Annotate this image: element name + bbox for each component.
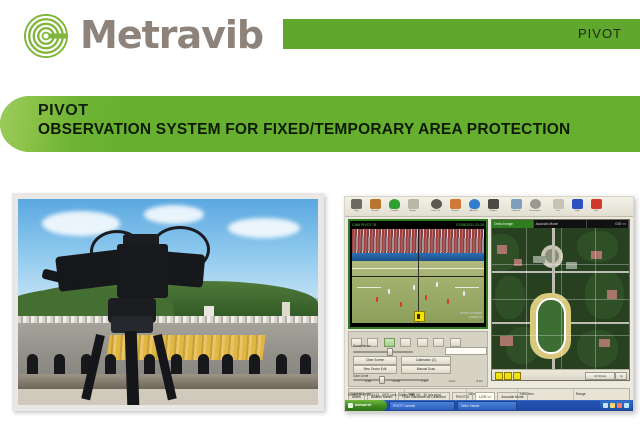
toolbar-button-calibrate[interactable]: Calibrate <box>507 198 525 216</box>
map-tab-acoustic-mode[interactable]: Acoustic Mode <box>534 220 588 228</box>
controls-clear-screen-button[interactable]: Clear Screen <box>353 356 397 365</box>
metravib-wordmark: Metravib <box>80 13 263 57</box>
video-camera-label: CAM PIVOT 01 <box>352 221 377 229</box>
toolbar-button-options[interactable]: Options <box>484 198 502 216</box>
video-player <box>400 302 402 307</box>
toolbar-button-record[interactable]: Record <box>366 198 384 216</box>
controls-new-sector-button[interactable]: New Sector Edit <box>353 365 397 374</box>
toolbar-button-report[interactable]: Report <box>404 198 422 216</box>
map-all-shots-button[interactable]: All Shots <box>585 372 615 380</box>
controls-calibration-button[interactable]: Calibration (C) <box>401 356 451 365</box>
control-mini-button[interactable] <box>450 338 461 347</box>
video-crosshair-vertical <box>418 229 419 323</box>
tripod-leg <box>125 331 140 405</box>
status-bar: SENSOR 1 / 21:34:12 - GPS Lock - Meteo d… <box>348 392 630 399</box>
video-image[interactable]: PIVOT SYSTEM ZOOM x4 <box>352 229 484 323</box>
control-mini-button[interactable] <box>433 338 444 347</box>
photo-sensor-deployment <box>12 193 324 411</box>
header-green-bar: PIVOT <box>283 19 640 49</box>
page-subtitle: OBSERVATION SYSTEM FOR FIXED/TEMPORARY A… <box>38 121 570 139</box>
windows-taskbar[interactable]: demarrer PIVOT Console Ortho Viewer <box>345 400 633 411</box>
map-switch-3[interactable] <box>513 372 521 380</box>
sensor-array-arm-left <box>55 249 125 292</box>
map-tab-ortho-image[interactable]: Ortho Image <box>492 220 534 228</box>
control-mini-button[interactable] <box>400 338 411 347</box>
system-tray[interactable] <box>600 401 632 410</box>
toolbar-button-help[interactable]: Help <box>568 198 586 216</box>
page-title: PIVOT <box>38 102 89 120</box>
toolbar-button-dark-cal[interactable]: Dark Cal <box>427 198 445 216</box>
map-tab-gis[interactable]: GIS << <box>587 220 629 228</box>
toolbar-button-localize[interactable]: Localize <box>385 198 403 216</box>
screenshot-pivot-software: Play Record Localize Report Dark Cal Sec… <box>344 196 634 412</box>
map-footer-bar[interactable]: All Shots ⇲ <box>492 369 629 380</box>
page-header: Metravib PIVOT <box>0 0 640 70</box>
ortho-map-panel[interactable]: Ortho Image Acoustic Mode GIS << <box>491 219 630 381</box>
metravib-logo-icon <box>24 14 68 58</box>
taskbar-item-pivot-console[interactable]: PIVOT Console <box>389 401 455 411</box>
sensor-head-body <box>117 244 168 298</box>
toolbar-button-play[interactable]: Play <box>347 198 365 216</box>
toolbar-button-exit[interactable]: Exit <box>587 198 605 216</box>
control-mini-button-active[interactable] <box>384 338 395 347</box>
controls-mini-toolbar[interactable] <box>351 334 485 341</box>
start-button[interactable]: demarrer <box>345 400 387 411</box>
map-canvas[interactable] <box>492 228 629 370</box>
video-osd-overlay: PIVOT SYSTEM ZOOM x4 <box>460 312 482 319</box>
video-header: CAM PIVOT 01 07/08/2011 21:34 <box>350 221 486 229</box>
controls-slider-1-track[interactable] <box>353 351 413 353</box>
toolbar-button-sectors[interactable]: Sectors <box>446 198 464 216</box>
map-expand-button[interactable]: ⇲ <box>615 372 627 380</box>
video-player <box>388 289 390 294</box>
header-product-label: PIVOT <box>578 19 622 49</box>
control-mini-button[interactable] <box>417 338 428 347</box>
map-switch-1[interactable] <box>495 372 503 380</box>
toolbar-button-add-pos[interactable]: Add Pos <box>465 198 483 216</box>
clock-icon[interactable] <box>624 403 629 408</box>
network-icon[interactable] <box>603 403 608 408</box>
video-player <box>376 297 378 302</box>
video-player <box>463 291 465 296</box>
controls-scale-ticks: 0 dB 10 dB 1 km 2 km 5 km <box>365 379 483 384</box>
controls-slider-1-knob[interactable] <box>387 348 393 356</box>
video-target-marker[interactable] <box>414 311 425 322</box>
photo-cloud <box>228 218 300 239</box>
photo-sensor-deployment-image <box>18 199 318 405</box>
controls-surveillance-label: Surveillance <box>353 344 370 349</box>
video-player <box>413 285 415 290</box>
title-banner: PIVOT OBSERVATION SYSTEM FOR FIXED/TEMPO… <box>0 96 640 152</box>
video-feed-panel[interactable]: CAM PIVOT 01 07/08/2011 21:34 PIVOT SYST… <box>348 219 488 329</box>
controls-manual-scan-button[interactable]: Manual Scan <box>401 365 451 374</box>
map-switch-2[interactable] <box>504 372 512 380</box>
controls-value-field[interactable] <box>445 347 487 355</box>
controls-panel[interactable]: Surveillance Clear Screen Calibration (C… <box>348 331 488 387</box>
app-toolbar[interactable]: Play Record Localize Report Dark Cal Sec… <box>345 197 633 217</box>
video-timestamp: 07/08/2011 21:34 <box>456 221 484 229</box>
map-tab-strip[interactable]: Ortho Image Acoustic Mode GIS << <box>492 220 629 228</box>
taskbar-item-ortho-viewer[interactable]: Ortho Viewer <box>457 401 517 411</box>
photo-cloud <box>144 205 204 224</box>
video-player <box>425 295 427 300</box>
volume-icon[interactable] <box>610 403 615 408</box>
video-player <box>447 299 449 304</box>
shield-icon[interactable] <box>617 403 622 408</box>
toolbar-button-parameters[interactable]: Parameters <box>526 198 544 216</box>
toolbar-button-list[interactable]: List <box>549 198 567 216</box>
